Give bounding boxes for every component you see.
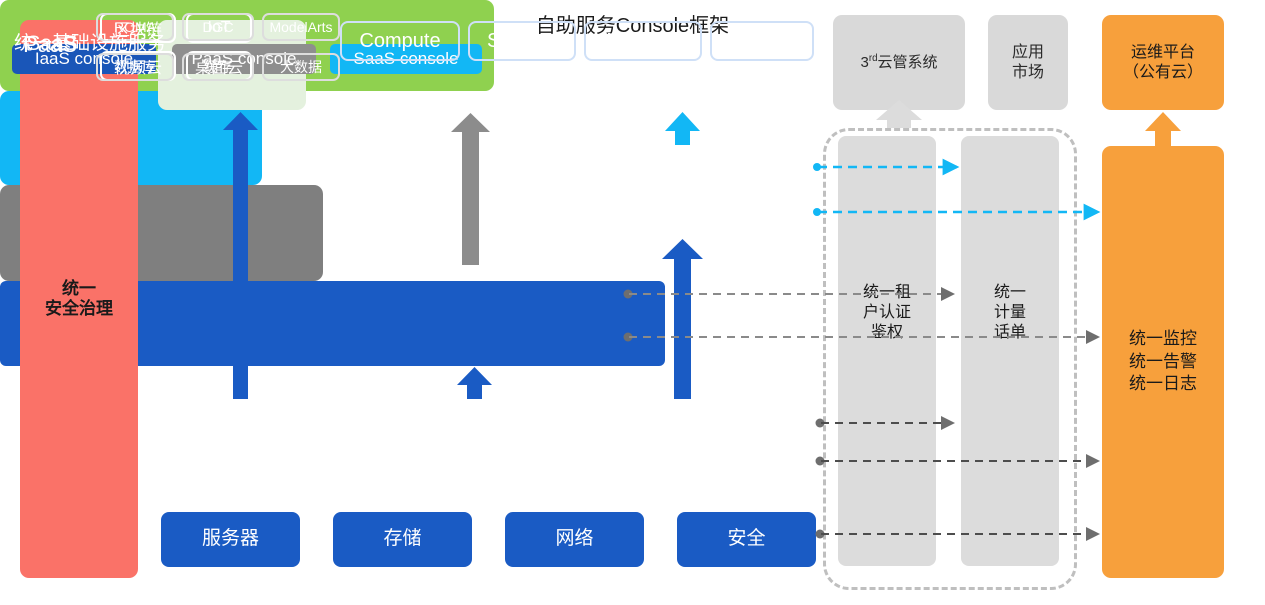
auth-line-2: 户认证	[838, 303, 936, 323]
metering-line-2: 计量	[961, 303, 1059, 323]
security-line-2: 安全治理	[45, 299, 113, 319]
app-market-line-1: 应用	[1012, 43, 1044, 62]
paas-service-database: 数据库	[96, 53, 174, 81]
monitor-line-1: 统一监控	[1129, 328, 1197, 351]
hardware-box-network: 网络	[505, 512, 644, 567]
auth-line-3: 鉴权	[838, 323, 936, 343]
ops-platform-box: 运维平台 （公有云）	[1102, 15, 1224, 110]
unified-tenant-auth-column	[838, 136, 936, 566]
third-party-superscript: rd	[869, 53, 878, 64]
paas-service-modelarts: ModelArts	[262, 13, 340, 41]
hardware-box-security: 安全	[677, 512, 816, 567]
paas-service-bigdata: 大数据	[262, 53, 340, 81]
auth-line-1: 统一租	[838, 283, 936, 303]
metering-line-1: 统一	[961, 283, 1059, 303]
ops-platform-line-1: 运维平台	[1123, 43, 1203, 62]
arrow-infra-to-paas	[457, 367, 492, 399]
ops-platform-line-2: （公有云）	[1123, 63, 1203, 82]
arrow-paas-to-console	[451, 113, 490, 265]
paas-service-cache: 缓存	[182, 53, 254, 81]
auth-column-label: 统一租 户认证 鉴权	[838, 283, 936, 343]
unified-security-governance-panel: 统一 安全治理	[20, 20, 138, 578]
unified-monitoring-panel: 统一监控 统一告警 统一日志	[1102, 146, 1224, 578]
arrow-infra-to-saas	[662, 239, 703, 399]
hardware-box-server: 服务器	[161, 512, 300, 567]
third-party-label: 3rd云管系统	[860, 53, 937, 72]
architecture-diagram: 统一 安全治理 API网关 自助服务Console框架 IaaS console…	[0, 0, 1265, 605]
monitor-line-2: 统一告警	[1129, 351, 1197, 374]
arrow-zone-to-ops-platform	[1145, 112, 1181, 146]
unified-metering-column	[961, 136, 1059, 566]
hardware-box-storage: 存储	[333, 512, 472, 567]
security-line-1: 统一	[45, 279, 113, 299]
paas-service-dgc: DGC	[182, 13, 254, 41]
monitor-line-3: 统一日志	[1129, 373, 1197, 396]
arrow-saas-to-console	[665, 112, 700, 145]
infra-service-network: Network	[584, 21, 702, 61]
third-party-cloud-management-box: 3rd云管系统	[833, 15, 965, 110]
app-market-line-2: 市场	[1012, 63, 1044, 82]
infra-service-storage: Storage	[468, 21, 576, 61]
infra-service-compute: Compute	[340, 21, 460, 61]
infrastructure-label: 统一基础设施服务	[14, 28, 166, 55]
infra-service-cce: CCE	[710, 21, 814, 61]
metering-line-3: 话单	[961, 323, 1059, 343]
app-market-box: 应用 市场	[988, 15, 1068, 110]
metering-column-label: 统一 计量 话单	[961, 283, 1059, 343]
